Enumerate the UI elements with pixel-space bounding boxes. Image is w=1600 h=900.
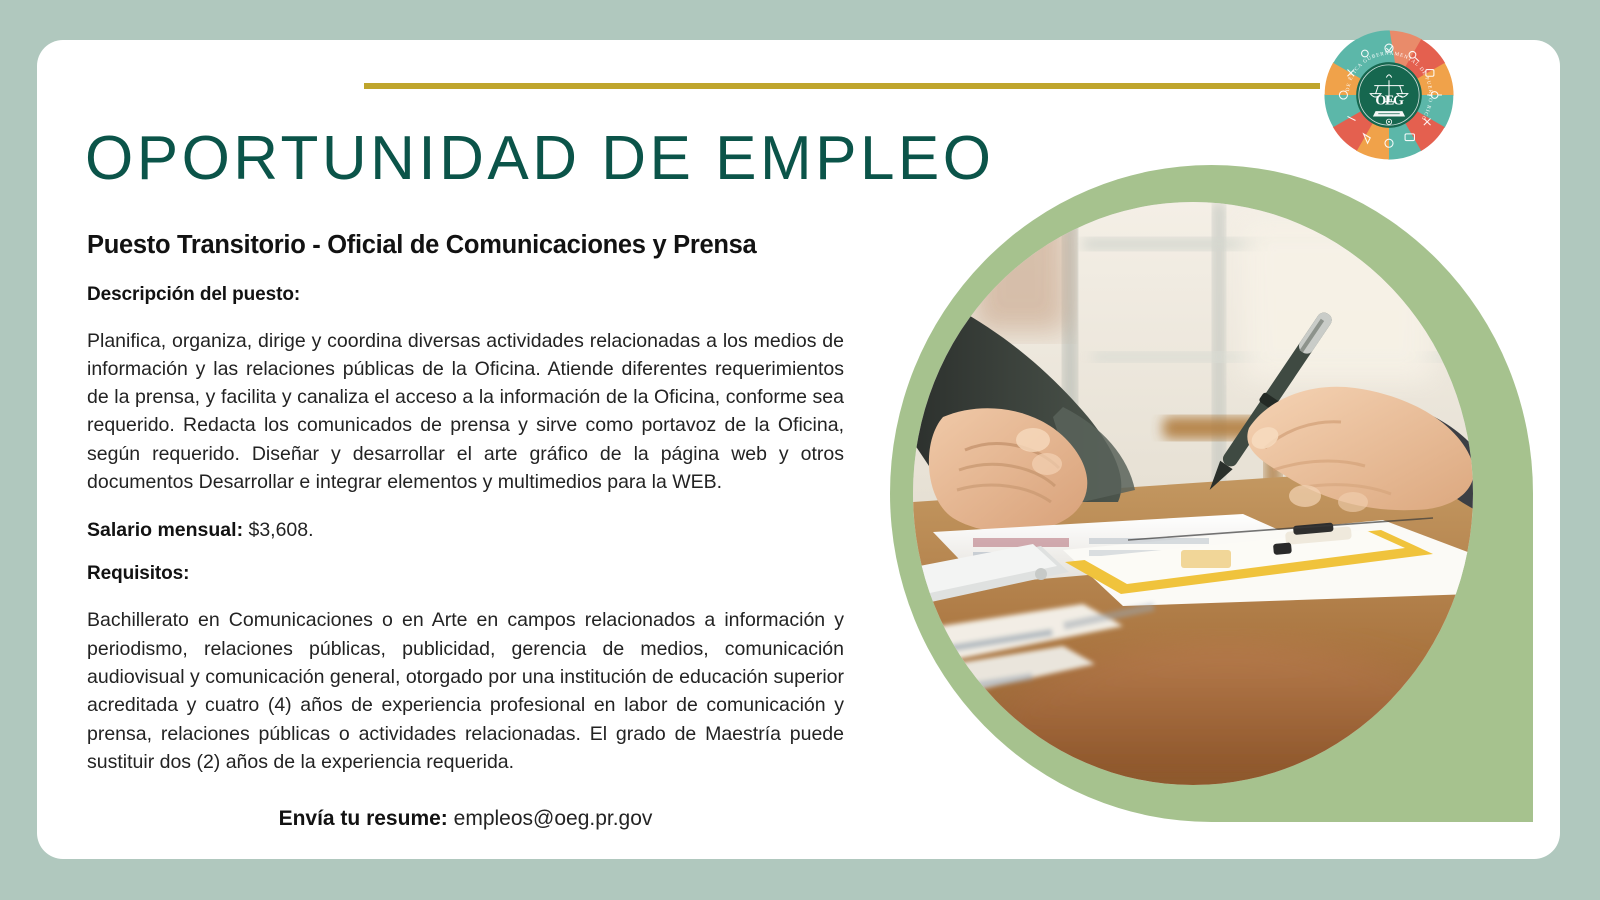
requirements-text: Bachillerato en Comunicaciones o en Arte… [87, 606, 844, 776]
page-title: OPORTUNIDAD DE EMPLEO [85, 128, 1005, 190]
oeg-seal-icon: OFICINA DE ÉTICA GUBERNAMENTAL DE PUERTO… [1322, 28, 1456, 162]
resume-email[interactable]: empleos@oeg.pr.gov [454, 807, 653, 830]
photo-panel [890, 165, 1533, 822]
resume-label: Envía tu resume: [279, 807, 448, 830]
description-label: Descripción del puesto: [87, 284, 844, 306]
job-position-subtitle: Puesto Transitorio - Oficial de Comunica… [87, 230, 844, 261]
job-details-column: Puesto Transitorio - Oficial de Comunica… [87, 230, 844, 797]
description-text: Planifica, organiza, dirige y coordina d… [87, 327, 844, 497]
gold-divider-rule [364, 83, 1320, 89]
salary-value: $3,608. [248, 519, 313, 541]
resume-footer: Envía tu resume: empleos@oeg.pr.gov [87, 807, 844, 831]
meeting-hands-documents-photo [913, 202, 1473, 785]
poster-card: OPORTUNIDAD DE EMPLEO Puesto Transitorio… [37, 40, 1560, 859]
requirements-label: Requisitos: [87, 563, 844, 585]
seal-monogram: OEG [1375, 92, 1404, 108]
salary-line: Salario mensual: $3,608. [87, 517, 844, 544]
salary-label: Salario mensual: [87, 519, 243, 541]
